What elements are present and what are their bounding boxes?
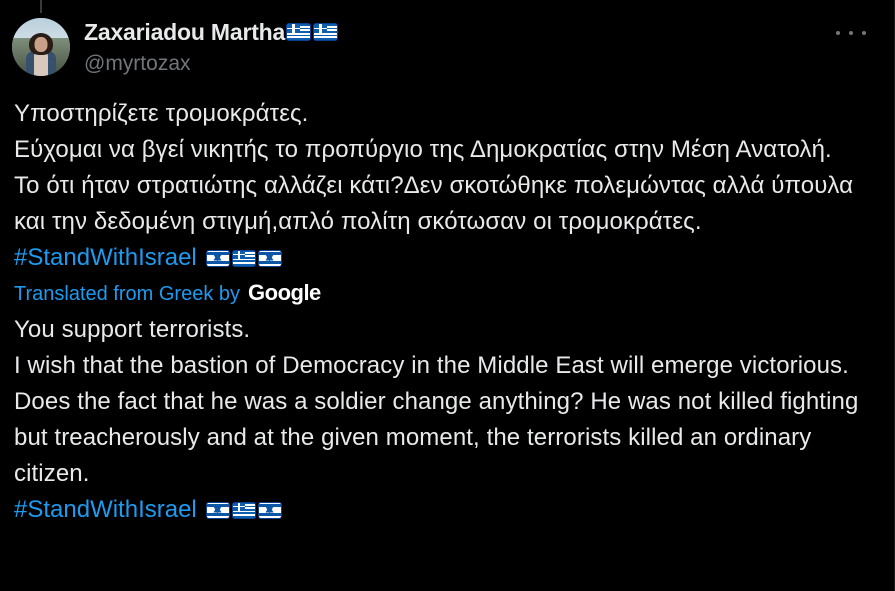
- tweet-card: Zaxariadou Martha @myrtozax Υποστ: [0, 0, 895, 591]
- avatar-image: [12, 18, 70, 76]
- flag-israel-icon: [206, 502, 230, 519]
- hashtag-flags-translated: [205, 502, 283, 519]
- tweet-header: Zaxariadou Martha @myrtozax: [0, 0, 895, 96]
- flag-greece-icon: [313, 23, 338, 41]
- flag-greece-icon: [232, 250, 256, 267]
- hashtag-flags-original: [205, 250, 283, 267]
- dot: [836, 31, 840, 35]
- hashtag-text: #StandWithIsrael: [14, 240, 197, 276]
- avatar-person-face: [35, 37, 48, 52]
- original-text-line-1: Υποστηρίζετε τρομοκράτες.: [14, 96, 866, 132]
- translated-text-line-2: I wish that the bastion of Democracy in …: [14, 348, 866, 384]
- translated-text-line-1: You support terrorists.: [14, 312, 866, 348]
- avatar-person-shirt: [34, 52, 48, 76]
- flag-israel-icon: [258, 502, 282, 519]
- hashtag-link-translated[interactable]: #StandWithIsrael: [14, 492, 283, 528]
- flag-israel-icon: [206, 250, 230, 267]
- flag-greece-icon: [286, 23, 311, 41]
- tweet-body: Υποστηρίζετε τρομοκράτες. Εύχομαι να βγε…: [0, 96, 880, 528]
- dot: [849, 31, 853, 35]
- hashtag-link-original[interactable]: #StandWithIsrael: [14, 240, 283, 276]
- original-text-line-3: Το ότι ήταν στρατιώτης αλλάζει κάτι?Δεν …: [14, 168, 866, 240]
- avatar[interactable]: [12, 18, 70, 76]
- flag-greece-icon: [232, 502, 256, 519]
- display-name-row[interactable]: Zaxariadou Martha: [84, 18, 339, 46]
- original-text-line-2: Εύχομαι να βγεί νικητής το προπύργιο της…: [14, 132, 866, 168]
- translation-attribution[interactable]: Translated from Greek by Google: [14, 277, 321, 310]
- hashtag-text: #StandWithIsrael: [14, 492, 197, 528]
- translated-text-block: You support terrorists. I wish that the …: [14, 312, 866, 528]
- display-name: Zaxariadou Martha: [84, 18, 285, 46]
- flag-israel-icon: [258, 250, 282, 267]
- dot: [862, 31, 866, 35]
- more-options-icon[interactable]: [836, 22, 866, 44]
- translated-text-line-3: Does the fact that he was a soldier chan…: [14, 384, 866, 492]
- author-info: Zaxariadou Martha @myrtozax: [84, 18, 339, 78]
- translation-notice-text: Translated from Greek by: [14, 278, 240, 310]
- google-logo: Google: [248, 277, 321, 309]
- handle[interactable]: @myrtozax: [84, 50, 339, 78]
